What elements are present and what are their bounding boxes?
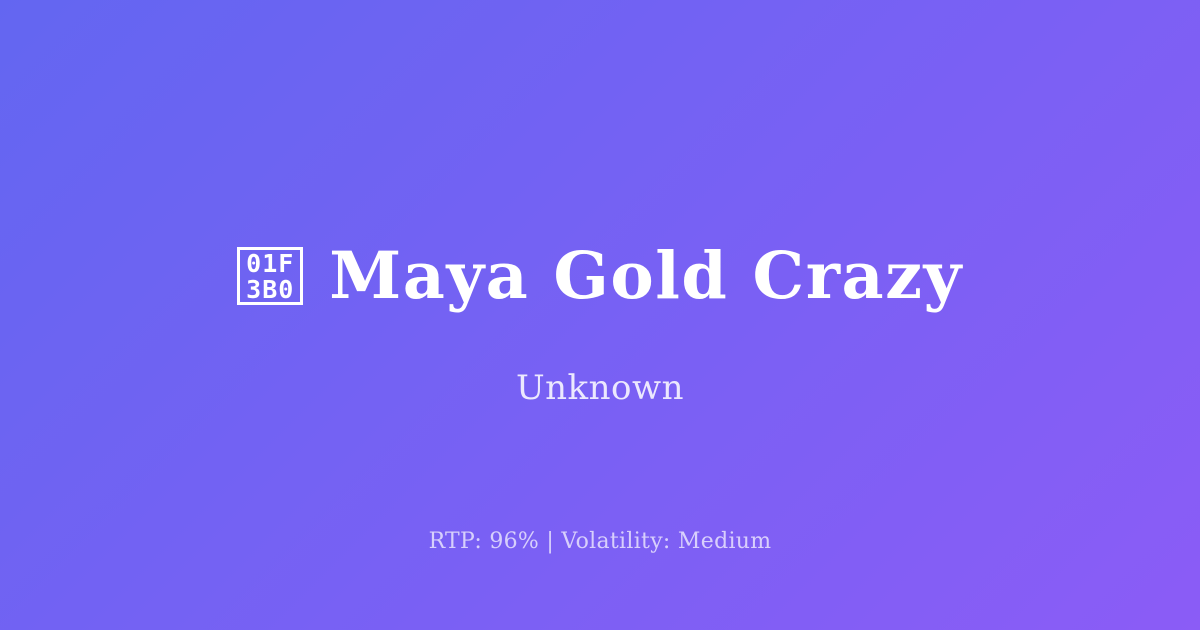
emoji-codepoint-top: 01F <box>246 251 294 277</box>
slot-machine-emoji-icon: 01F 3B0 <box>237 247 303 305</box>
page-title: Maya Gold Crazy <box>329 244 963 309</box>
game-preview-card: 01F 3B0 Maya Gold Crazy Unknown RTP: 96%… <box>0 0 1200 630</box>
title-row: 01F 3B0 Maya Gold Crazy <box>0 232 1200 320</box>
game-meta-line: RTP: 96% | Volatility: Medium <box>0 528 1200 557</box>
emoji-codepoint-bottom: 3B0 <box>246 277 294 303</box>
game-subtitle: Unknown <box>0 366 1200 410</box>
